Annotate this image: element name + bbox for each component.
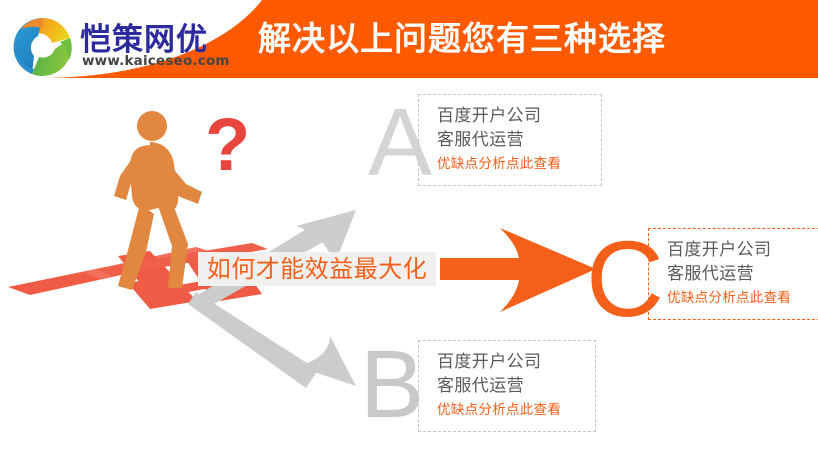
option-b-line1: 百度开户公司 (437, 350, 595, 374)
kaice-circle-logo-icon (12, 16, 74, 78)
option-card-c[interactable]: 百度开户公司 客服代运营 优缺点分析点此查看 (648, 228, 818, 320)
option-b-line2: 客服代运营 (437, 374, 595, 398)
logo-url: www.kaiceseo.com (82, 53, 230, 69)
question-mark-icon: ? (205, 103, 250, 186)
option-c-line1: 百度开户公司 (667, 238, 818, 262)
option-a-line2: 客服代运营 (437, 128, 601, 152)
option-card-b[interactable]: 百度开户公司 客服代运营 优缺点分析点此查看 (418, 340, 596, 432)
option-c-line2: 客服代运营 (667, 262, 818, 286)
brand-logo[interactable]: 恺策网优 www.kaiceseo.com (8, 12, 238, 74)
gray-arrow-to-option-b (188, 292, 356, 388)
page-title: 解决以上问题您有三种选择 (258, 14, 728, 64)
option-letter-b: B (360, 337, 424, 433)
svg-text:?: ? (205, 103, 250, 186)
slide-canvas: 解决以上问题您有三种选择 (0, 0, 818, 459)
orange-arrow-to-option-c (440, 228, 596, 312)
option-card-a[interactable]: 百度开户公司 客服代运营 优缺点分析点此查看 (418, 94, 602, 186)
option-a-line1: 百度开户公司 (437, 104, 601, 128)
center-question-label: 如何才能效益最大化 (198, 252, 436, 286)
option-b-detail-link[interactable]: 优缺点分析点此查看 (437, 399, 595, 421)
walking-person-figure (114, 111, 202, 290)
option-a-detail-link[interactable]: 优缺点分析点此查看 (437, 153, 601, 175)
option-c-detail-link[interactable]: 优缺点分析点此查看 (667, 287, 818, 309)
